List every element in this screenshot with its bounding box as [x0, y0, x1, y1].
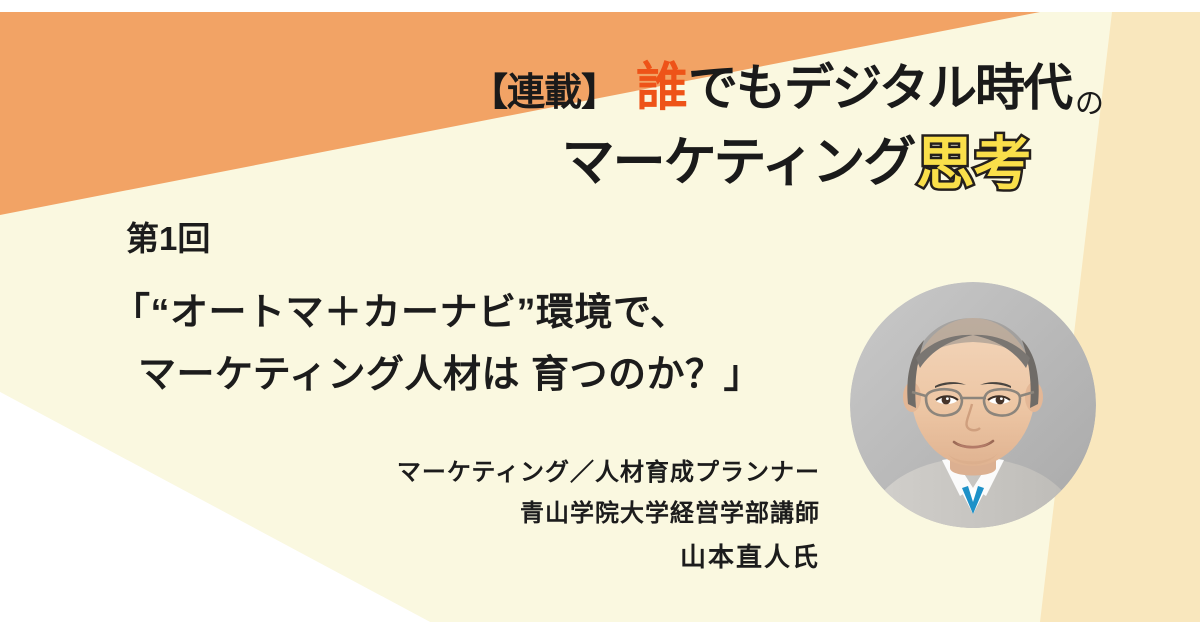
series-title-rest: でもデジタル時代: [688, 60, 1071, 116]
series-accent-kanji: 誰: [636, 59, 688, 117]
headline-line-2: マーケティング人材は 育つのか？」: [112, 345, 842, 407]
series-title: 【連載】誰でもデジタル時代の マーケティング思考: [470, 62, 1130, 202]
article-banner: 【連載】誰でもデジタル時代の マーケティング思考 第1回 「“オートマ＋カーナビ…: [0, 0, 1200, 630]
episode-number: 第1回: [126, 212, 210, 260]
author-credit: マーケティング／人材育成プランナー 青山学院大学経営学部講師 山本直人氏: [240, 452, 820, 579]
series-tag-label: 【連載】: [470, 72, 618, 114]
article-headline: 「“オートマ＋カーナビ”環境で、 マーケティング人材は 育つのか？」: [112, 283, 842, 406]
series-title-kana: マーケティング: [562, 133, 915, 192]
series-title-line-1: 【連載】誰でもデジタル時代の: [470, 62, 1130, 130]
author-name: 山本直人氏: [240, 535, 820, 580]
author-role: マーケティング／人材育成プランナー: [240, 452, 820, 493]
series-title-line-2: マーケティング思考: [470, 132, 1130, 202]
author-affiliation: 青山学院大学経営学部講師: [240, 493, 820, 534]
series-title-highlight: 思考: [916, 132, 1030, 197]
author-portrait-photo: [850, 282, 1096, 528]
series-title-particle: の: [1075, 88, 1104, 120]
headline-line-1: 「“オートマ＋カーナビ”環境で、: [112, 292, 688, 334]
